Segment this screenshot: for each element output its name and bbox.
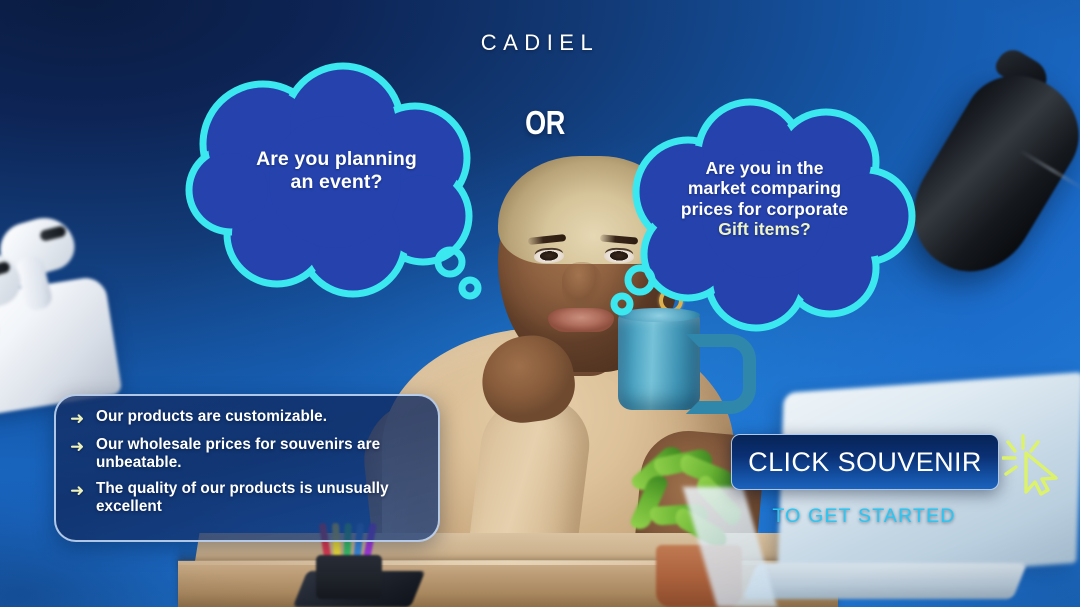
arrow-bullet-icon: ➜ [70, 436, 96, 457]
marketing-banner: CADIEL [0, 0, 1080, 607]
click-souvenir-button[interactable]: CLICK SOUVENIR [731, 434, 999, 490]
bubble-right-line-4: Gift items? [718, 219, 811, 239]
thought-bubble-right-text: Are you in the market comparing prices f… [652, 158, 877, 240]
list-item: ➜ The quality of our products is unusual… [70, 480, 420, 517]
feature-text: Our wholesale prices for souvenirs are u… [96, 436, 420, 473]
bubble-right-line-3: prices for corporate [681, 199, 848, 219]
thought-bubble-left: Are you planning an event? [185, 66, 485, 306]
list-item: ➜ Our wholesale prices for souvenirs are… [70, 436, 420, 473]
thought-bubble-left-text: Are you planning an event? [229, 148, 444, 194]
cursor-arrow-glyph [1026, 453, 1056, 494]
bubble-left-line-1: Are you planning [256, 148, 417, 170]
bubble-left-line-2: an event? [291, 171, 383, 193]
list-item: ➜ Our products are customizable. [70, 408, 420, 429]
feature-text: Our products are customizable. [96, 408, 327, 426]
bubble-right-line-2: market comparing [688, 178, 841, 198]
arrow-bullet-icon: ➜ [70, 480, 96, 501]
bubble-right-line-1: Are you in the [705, 158, 823, 178]
arrow-bullet-icon: ➜ [70, 408, 96, 429]
thought-bubble-right: Are you in the market comparing prices f… [614, 104, 914, 324]
cta-subtitle: TO GET STARTED [731, 505, 997, 528]
click-cursor-icon[interactable] [1002, 434, 1060, 498]
page-title: CADIEL [0, 30, 1080, 56]
feature-text: The quality of our products is unusually… [96, 480, 420, 517]
or-divider-label: OR [510, 104, 581, 142]
features-panel: ➜ Our products are customizable. ➜ Our w… [54, 394, 440, 542]
click-souvenir-button-label: CLICK SOUVENIR [748, 447, 982, 478]
